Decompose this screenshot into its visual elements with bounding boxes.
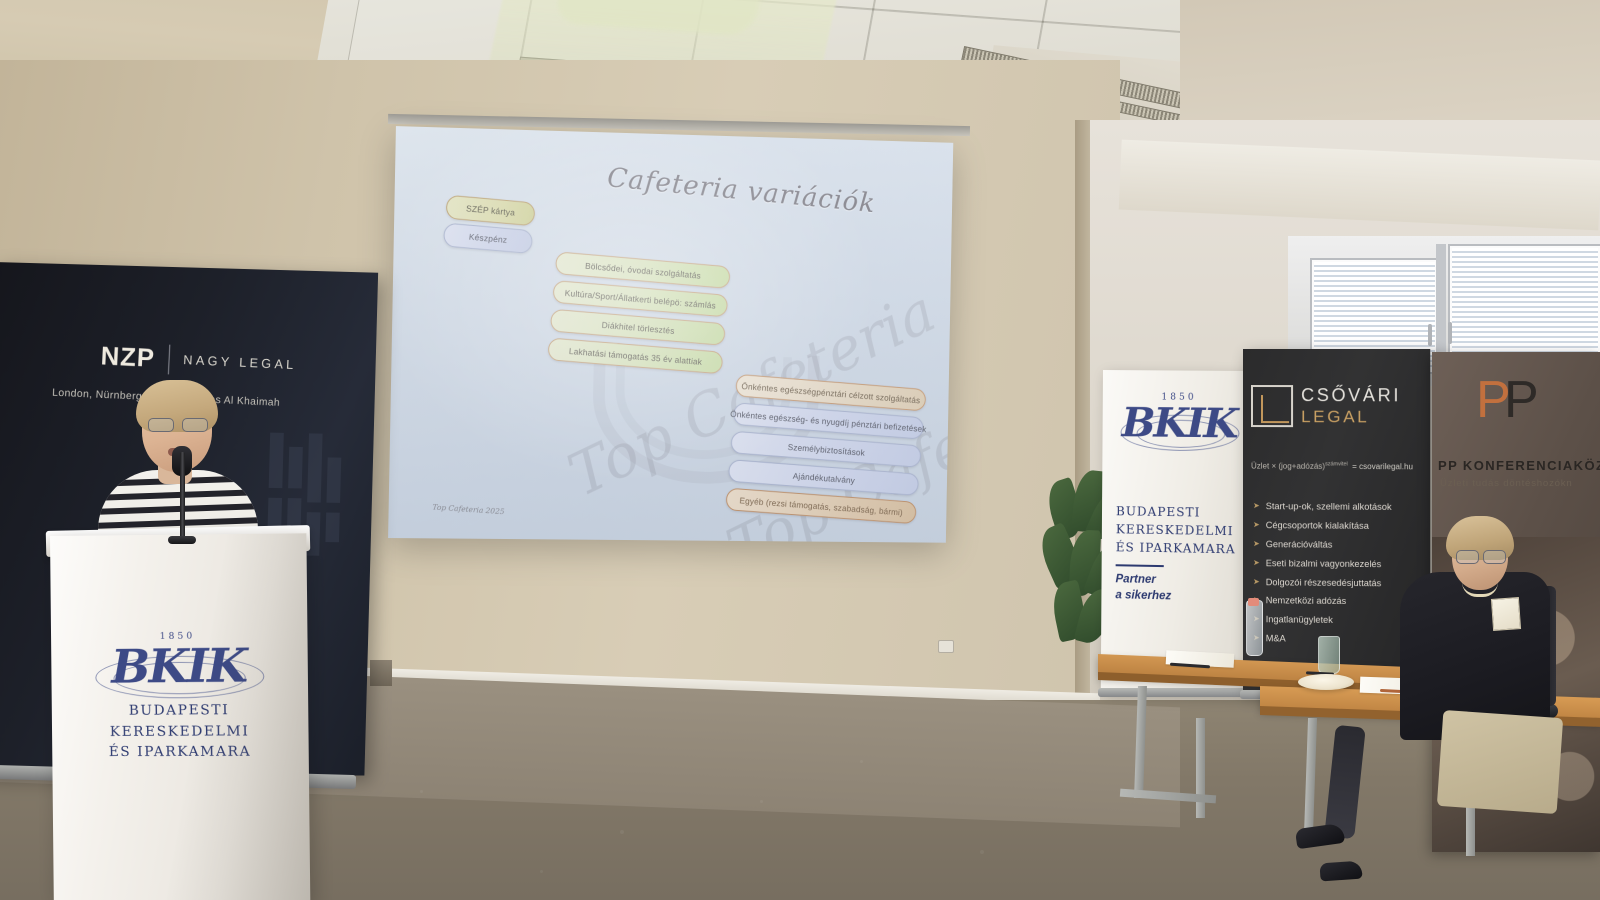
drinking-glass[interactable] <box>1318 636 1340 674</box>
pp-banner-title: PP KONFERENCIAKÖZP <box>1438 458 1600 473</box>
csovari-formula-base: Üzlet × (jog+adózás) <box>1251 462 1325 471</box>
bkik-banner-org-line2: KERESKEDELMI <box>1116 520 1241 540</box>
csovari-name: CSŐVÁRI <box>1301 385 1401 406</box>
bkik-banner-org-line1: BUDAPESTI <box>1116 502 1241 522</box>
speaker-glasses <box>148 418 206 430</box>
csovari-service-label: M&A <box>1266 633 1286 643</box>
nzp-subtitle-text: NAGY LEGAL <box>183 352 297 372</box>
chevron-right-icon: ➤ <box>1253 520 1260 530</box>
nzp-divider <box>168 344 170 374</box>
csovari-service-label: Cégcsoportok kialakítása <box>1266 520 1369 531</box>
csovari-formula-result: = csovarilegal.hu <box>1352 462 1413 471</box>
csovari-service-label: Start-up-ok, szellemi alkotások <box>1266 501 1392 512</box>
table-leg <box>1196 718 1205 818</box>
projected-slide: Top Cafeteria Top Cafeteria Cafeteria va… <box>388 126 953 543</box>
csovari-name-legal: LEGAL <box>1301 407 1369 427</box>
window-handle-left[interactable] <box>1428 324 1432 346</box>
csovari-service-label: Eseti bizalmi vagyonkezelés <box>1266 558 1382 569</box>
list-item: ➤Cégcsoportok kialakítása <box>1253 520 1426 532</box>
window-blind-right[interactable] <box>1452 248 1598 362</box>
list-item: ➤Eseti bizalmi vagyonkezelés <box>1253 558 1426 570</box>
pp-banner-subtitle: Üzleti tudás döntéshozókn <box>1440 478 1573 489</box>
csovari-service-label: Nemzetközi adózás <box>1266 596 1347 607</box>
podium-microphone-stand <box>180 452 185 544</box>
bkik-banner-org-line3: ÉS IPARKAMARA <box>1116 538 1241 558</box>
csovari-service-label: Dolgozói részesedésjuttatás <box>1266 577 1382 588</box>
nzp-logo-text: NZP <box>100 341 156 374</box>
bkik-banner-tagline: Partner a sikerhez <box>1115 572 1240 606</box>
pill-szep-kartya[interactable]: SZÉP kártya <box>445 195 535 227</box>
list-item: ➤Generációváltás <box>1253 539 1426 551</box>
wall-outlet[interactable] <box>938 640 954 653</box>
csovari-logo-icon <box>1251 385 1293 427</box>
conference-room-photo: Top Cafeteria Top Cafeteria Cafeteria va… <box>0 0 1600 900</box>
projection-screen: Top Cafeteria Top Cafeteria Cafeteria va… <box>388 126 953 543</box>
bkik-banner-base <box>1098 688 1256 697</box>
name-badge <box>1491 597 1521 631</box>
bkik-tagline-line1: Partner <box>1115 572 1240 590</box>
bkik-banner-logo: 1850 BKIK <box>1116 392 1241 445</box>
slide-footer: Top Cafeteria 2025 <box>432 502 505 516</box>
seated-person-shoe-2 <box>1319 861 1362 882</box>
list-item: ➤Dolgozói részesedésjuttatás <box>1253 577 1426 589</box>
bkik-banner-rule <box>1116 564 1164 567</box>
nzp-wordmark: NZP NAGY LEGAL <box>100 341 297 380</box>
plate-left[interactable] <box>1298 674 1354 690</box>
bkik-banner: 1850 BKIK BUDAPESTI KERESKEDELMI ÉS IPAR… <box>1101 370 1256 696</box>
csovari-formula-exponent: számvitel <box>1325 461 1348 467</box>
csovari-service-label: Generációváltás <box>1266 539 1333 550</box>
chevron-right-icon: ➤ <box>1253 501 1260 511</box>
slide-title: Cafeteria variációk <box>606 162 877 219</box>
bottle-cap-left <box>1248 598 1259 606</box>
bkik-banner-org: BUDAPESTI KERESKEDELMI ÉS IPARKAMARA <box>1116 502 1241 558</box>
chevron-right-icon: ➤ <box>1253 577 1260 587</box>
podium-microphone-base <box>168 536 196 544</box>
pp-logo-right: P <box>1504 374 1539 426</box>
window-right-pane <box>1448 244 1600 366</box>
csovari-formula: Üzlet × (jog+adózás)számvitel = csovaril… <box>1251 461 1413 471</box>
csovari-service-label: Ingatlanügyletek <box>1266 615 1333 626</box>
podium: 1850 BKIK BUDAPESTI KERESKEDELMI ÉS IPAR… <box>50 533 310 900</box>
chevron-right-icon: ➤ <box>1253 539 1260 549</box>
pill-keszpenz[interactable]: Készpénz <box>443 222 533 254</box>
window-handle-right[interactable] <box>1448 322 1452 344</box>
seated-person-skirt <box>1437 710 1563 814</box>
wall-access-panel <box>370 660 392 686</box>
chevron-right-icon: ➤ <box>1253 558 1260 568</box>
bkik-tagline-line2: a sikerhez <box>1115 588 1240 606</box>
water-bottle-left[interactable] <box>1246 600 1263 656</box>
list-item: ➤Start-up-ok, szellemi alkotások <box>1253 501 1426 512</box>
seated-person-glasses <box>1456 550 1504 560</box>
